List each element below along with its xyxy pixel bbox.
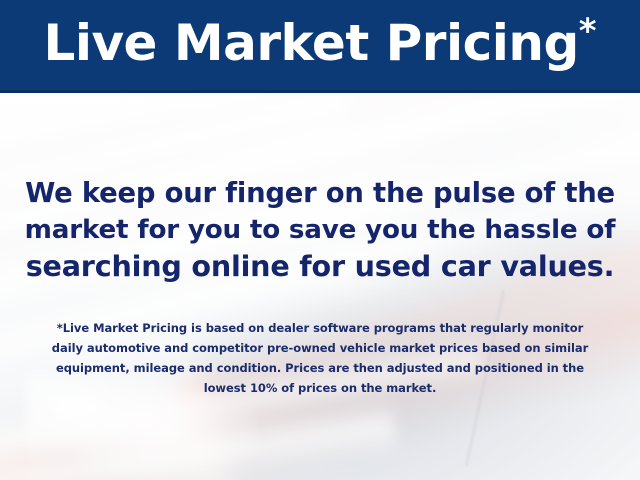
disclaimer-line-3: equipment, mileage and condition. Prices…: [22, 358, 618, 378]
headline-line-1: We keep our finger on the pulse of the: [24, 176, 616, 212]
headline-line-2: market for you to save you the hassle of: [24, 212, 616, 248]
disclaimer-line-2: daily automotive and competitor pre-owne…: [22, 338, 618, 358]
page-title-text: Live Market Pricing: [43, 14, 578, 72]
headline-line-3: searching online for used car values.: [24, 248, 616, 284]
header-bar: Live Market Pricing*: [0, 0, 640, 93]
page-title: Live Market Pricing*: [43, 18, 596, 72]
disclaimer-line-4: lowest 10% of prices on the market.: [22, 378, 618, 398]
disclaimer-text: *Live Market Pricing is based on dealer …: [0, 318, 640, 398]
disclaimer-line-1: *Live Market Pricing is based on dealer …: [22, 318, 618, 338]
headline: We keep our finger on the pulse of the m…: [0, 176, 640, 284]
title-footnote-marker: *: [579, 11, 597, 51]
live-market-pricing-banner: Live Market Pricing* We keep our finger …: [0, 0, 640, 480]
